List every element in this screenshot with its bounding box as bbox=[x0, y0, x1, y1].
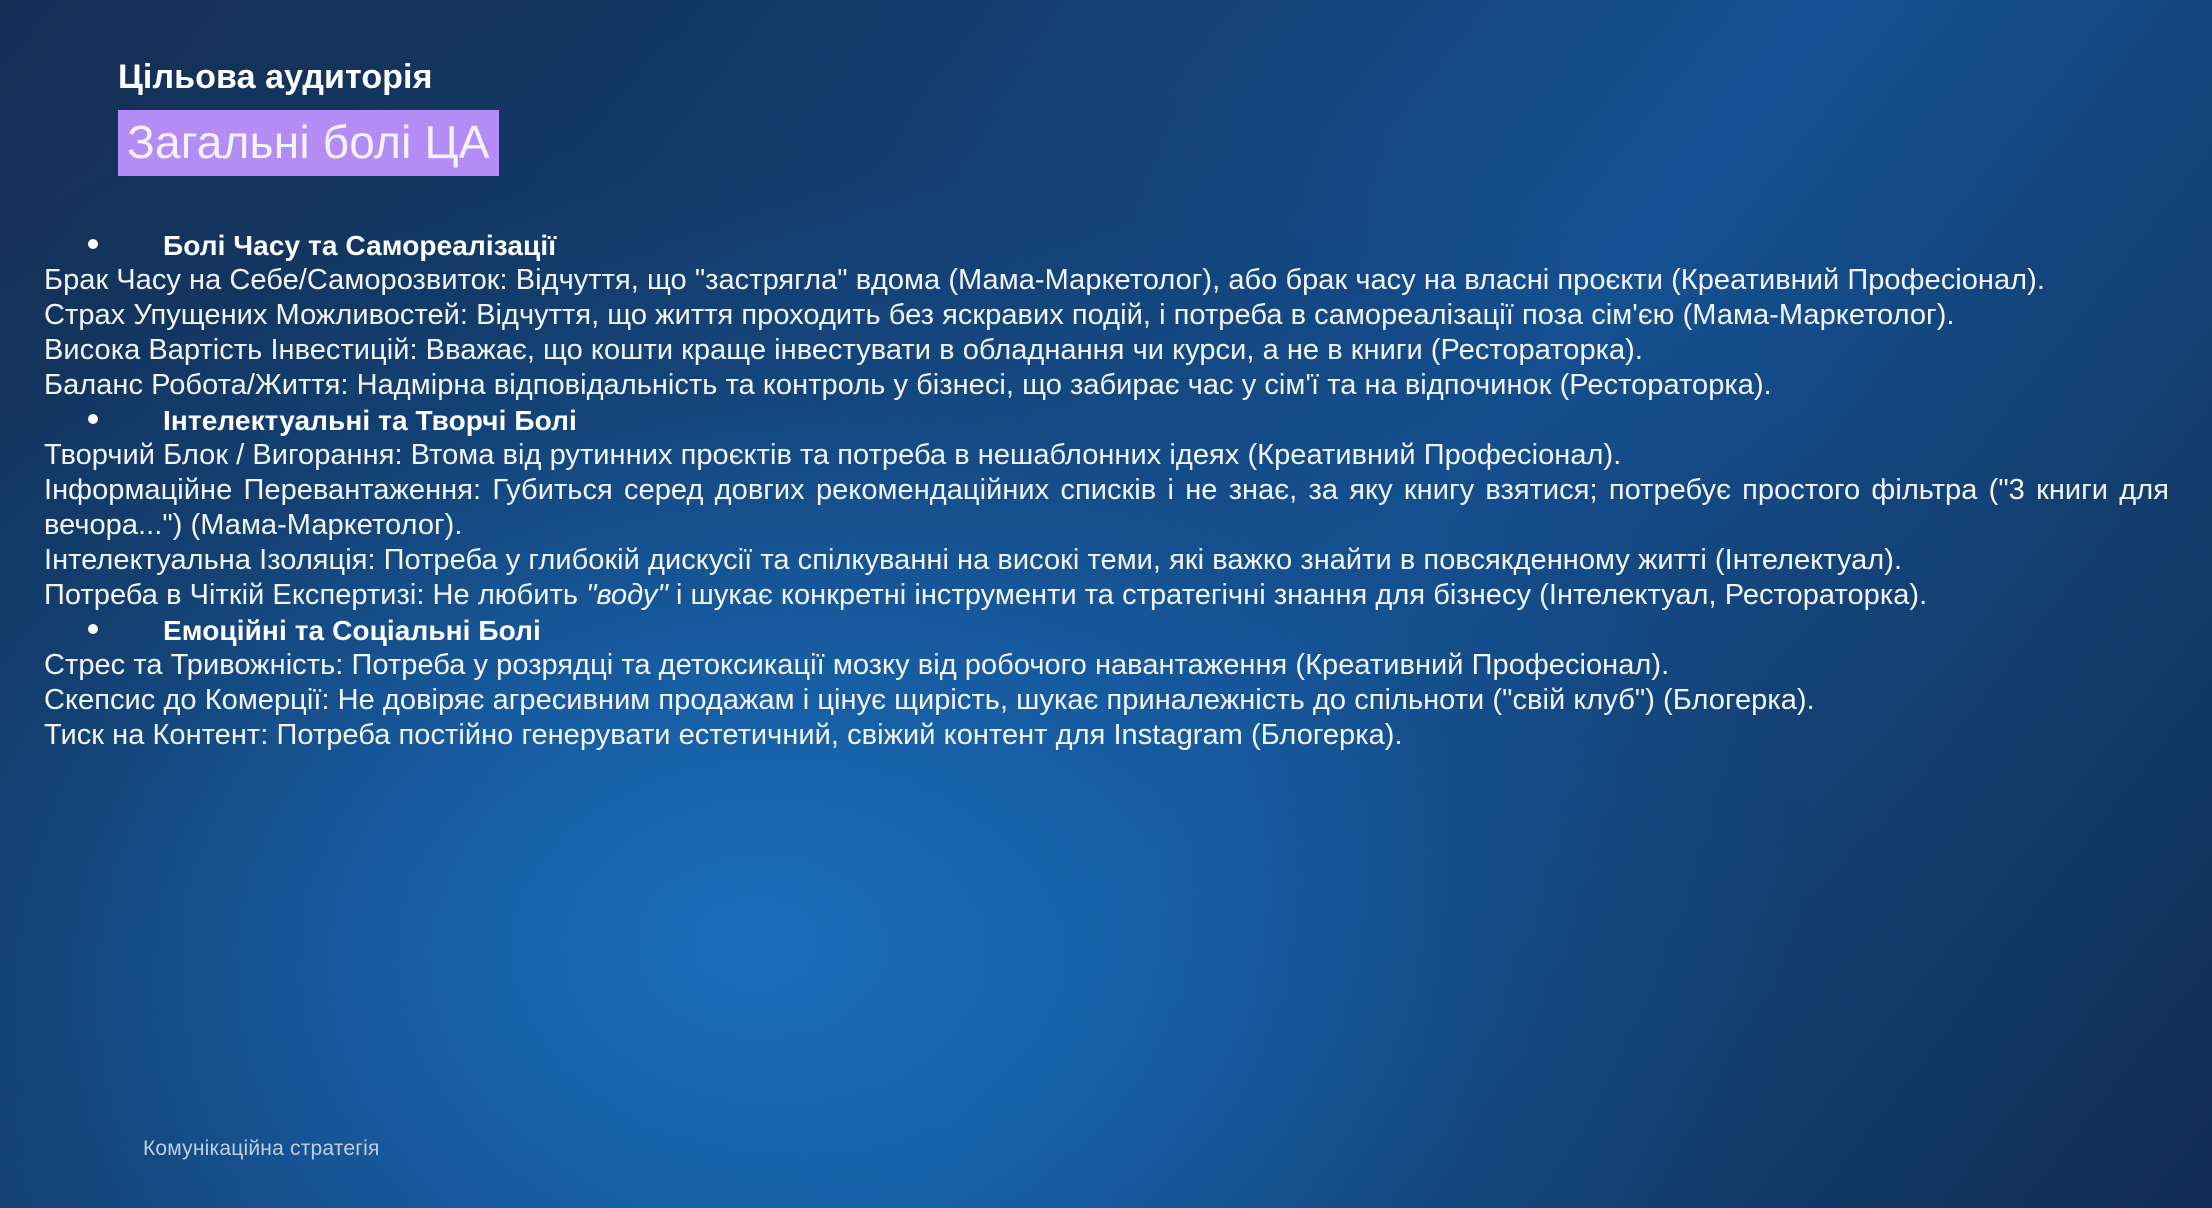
pain-point-paragraph: Інформаційне Перевантаження: Губиться се… bbox=[44, 473, 2169, 543]
section-heading: Інтелектуальні та Творчі Болі bbox=[44, 403, 2169, 438]
footer-label: Комунікаційна стратегія bbox=[143, 1137, 380, 1161]
page-title: Загальні болі ЦА bbox=[118, 110, 499, 176]
bullet-icon bbox=[88, 239, 98, 249]
pain-point-paragraph: Скепсис до Комерції: Не довіряє агресивн… bbox=[44, 683, 2169, 718]
bullet-icon bbox=[88, 624, 98, 634]
paragraph-text-post: і шукає конкретні інструменти та стратег… bbox=[668, 579, 1927, 611]
pain-point-paragraph: Стрес та Тривожність: Потреба у розрядці… bbox=[44, 648, 2169, 683]
paragraph-emphasis: "воду" bbox=[586, 579, 668, 611]
paragraph-text-pre: Потреба в Чіткій Експертизі: Не любить bbox=[44, 579, 586, 611]
pain-point-paragraph: Страх Упущених Можливостей: Відчуття, що… bbox=[44, 298, 2169, 333]
page-title-wrapper: Загальні болі ЦА bbox=[118, 110, 1918, 176]
section-heading-label: Емоційні та Соціальні Болі bbox=[163, 613, 541, 648]
slide-header: Цільова аудиторія Загальні болі ЦА bbox=[118, 58, 1918, 176]
pain-point-paragraph: Висока Вартість Інвестицій: Вважає, що к… bbox=[44, 333, 2169, 368]
section-heading-label: Болі Часу та Самореалізації bbox=[163, 228, 556, 263]
pain-point-paragraph: Інтелектуальна Ізоляція: Потреба у глибо… bbox=[44, 543, 2169, 578]
pain-point-paragraph: Тиск на Контент: Потреба постійно генеру… bbox=[44, 718, 2169, 753]
section-heading: Емоційні та Соціальні Болі bbox=[44, 613, 2169, 648]
pain-point-paragraph: Потреба в Чіткій Експертизі: Не любить "… bbox=[44, 578, 2169, 613]
bullet-icon bbox=[88, 414, 98, 424]
slide-root: Цільова аудиторія Загальні болі ЦА Болі … bbox=[0, 0, 2212, 1208]
content-body: Болі Часу та СамореалізаціїБрак Часу на … bbox=[44, 228, 2169, 753]
pain-point-paragraph: Баланс Робота/Життя: Надмірна відповідал… bbox=[44, 368, 2169, 403]
eyebrow-label: Цільова аудиторія bbox=[118, 58, 1918, 97]
pain-point-paragraph: Творчий Блок / Вигорання: Втома від рути… bbox=[44, 438, 2169, 473]
pain-point-paragraph: Брак Часу на Себе/Саморозвиток: Відчуття… bbox=[44, 263, 2169, 298]
section-heading: Болі Часу та Самореалізації bbox=[44, 228, 2169, 263]
section-heading-label: Інтелектуальні та Творчі Болі bbox=[163, 403, 577, 438]
